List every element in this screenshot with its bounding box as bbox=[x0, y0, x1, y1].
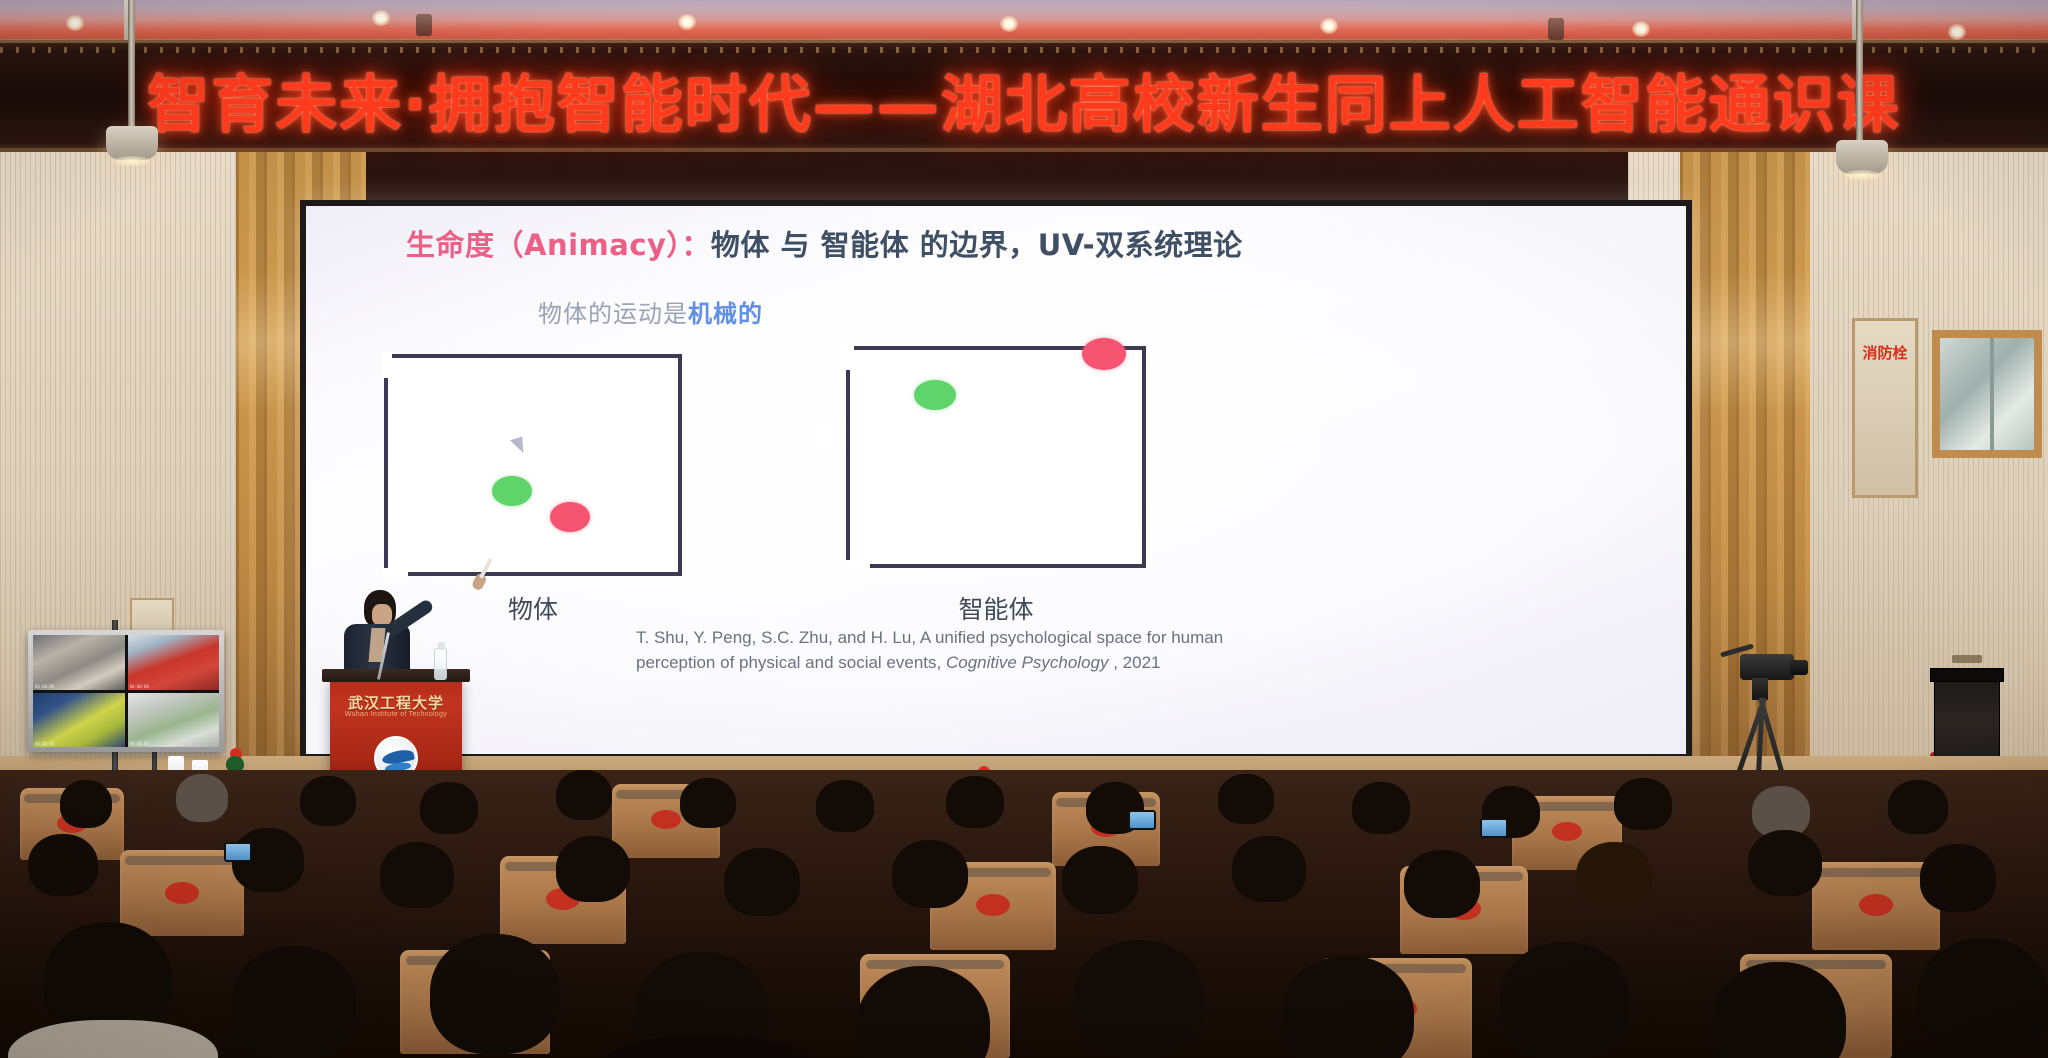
monitor-cell-1: 00:00:00 bbox=[33, 635, 125, 690]
panel-corner-gap bbox=[382, 352, 392, 378]
stage-lamp bbox=[1836, 140, 1888, 174]
seat bbox=[120, 850, 244, 936]
curtain-highlight bbox=[1680, 272, 1810, 412]
projection-screen: 生命度（Animacy）：物体 与 智能体 的边界，UV-双系统理论 物体的运动… bbox=[306, 206, 1686, 754]
podium-organization: 武汉工程大学 bbox=[330, 692, 462, 713]
audience-head bbox=[1352, 782, 1410, 834]
monitor-timestamp: 00:00:00 bbox=[130, 684, 149, 689]
audience-head bbox=[1074, 940, 1204, 1058]
slide-title-pink: 生命度（Animacy）： bbox=[406, 228, 711, 262]
audience-shoulders bbox=[8, 1020, 218, 1058]
monitor-cell-4: 00:00:00 bbox=[128, 693, 220, 748]
audience-head bbox=[946, 776, 1004, 828]
auditorium-photo: 智育未来·拥抱智能时代——湖北高校新生同上人工智能通识课 消防栓 生命度（Ani… bbox=[0, 0, 2048, 1058]
pink-blob bbox=[1082, 338, 1126, 370]
panel-corner-gap bbox=[382, 568, 408, 578]
water-bottle bbox=[434, 648, 447, 680]
slide-title: 生命度（Animacy）：物体 与 智能体 的边界，UV-双系统理论 bbox=[406, 222, 1646, 264]
audience-head bbox=[892, 840, 968, 908]
audience-head bbox=[232, 946, 356, 1058]
fire-hydrant-sign: 消防栓 bbox=[1856, 345, 1914, 362]
seat-number-badge bbox=[976, 894, 1010, 916]
downlight-icon bbox=[1632, 21, 1650, 37]
stage-lamp bbox=[106, 126, 158, 160]
seat-number-badge bbox=[1859, 894, 1893, 916]
audience-head bbox=[1614, 778, 1672, 830]
camera-body bbox=[1740, 654, 1794, 680]
audience-head bbox=[556, 836, 630, 902]
slide-subtitle-blue: 机械的 bbox=[688, 300, 763, 328]
audience-head bbox=[60, 780, 112, 828]
pa-speaker-top bbox=[1930, 668, 2004, 682]
audience-head bbox=[1500, 942, 1630, 1058]
slide-subtitle-gray: 物体的运动是 bbox=[538, 300, 688, 328]
green-blob bbox=[914, 380, 956, 410]
citation-journal: Cognitive Psychology bbox=[946, 653, 1109, 672]
podium-desktop bbox=[322, 669, 470, 682]
audience-head bbox=[680, 778, 736, 828]
window-mullion bbox=[1990, 338, 1994, 450]
monitor-cell-2: 00:00:00 bbox=[128, 635, 220, 690]
downlight-icon bbox=[1000, 16, 1018, 32]
audience-head bbox=[1404, 850, 1480, 918]
audience-head bbox=[1920, 844, 1996, 912]
citation-line-2a: perception of physical and social events… bbox=[636, 653, 946, 672]
audience-head bbox=[176, 774, 228, 822]
seat-number-badge bbox=[651, 810, 681, 829]
audience-head bbox=[1282, 956, 1414, 1058]
downlight-icon bbox=[1320, 18, 1338, 34]
camera-lens-icon bbox=[1790, 660, 1808, 675]
audience-head bbox=[556, 770, 612, 820]
citation-line-1: T. Shu, Y. Peng, S.C. Zhu, and H. Lu, A … bbox=[636, 628, 1223, 647]
slide-subtitle: 物体的运动是机械的 bbox=[538, 294, 763, 329]
security-monitor: 00:00:00 00:00:00 00:00:00 00:00:00 bbox=[28, 630, 224, 752]
citation-line-2b: , 2021 bbox=[1109, 653, 1161, 672]
monitor-timestamp: 00:00:00 bbox=[130, 741, 149, 746]
ceiling-vent bbox=[416, 14, 432, 36]
mouse-cursor-icon bbox=[510, 436, 527, 455]
led-banner: 智育未来·拥抱智能时代——湖北高校新生同上人工智能通识课 bbox=[0, 40, 2048, 152]
banner-title: 智育未来·拥抱智能时代——湖北高校新生同上人工智能通识课 bbox=[0, 43, 2048, 155]
seat-number-badge bbox=[1552, 822, 1582, 841]
audience-head bbox=[816, 780, 874, 832]
audience-head bbox=[380, 842, 454, 908]
demo-panel-agent bbox=[846, 346, 1146, 568]
audience-phone bbox=[1480, 818, 1508, 838]
monitor-cell-3: 00:00:00 bbox=[33, 693, 125, 748]
audience-phone bbox=[224, 842, 252, 862]
downlight-icon bbox=[1948, 24, 1966, 40]
audience-head bbox=[1918, 938, 2048, 1058]
wall-window bbox=[1932, 330, 2042, 458]
audience-head bbox=[300, 776, 356, 826]
downlight-icon bbox=[66, 15, 84, 31]
audience-head bbox=[28, 834, 98, 896]
seat-number-badge bbox=[165, 882, 199, 904]
seat-headrest bbox=[1817, 868, 1935, 877]
panel-corner-gap bbox=[844, 560, 870, 570]
audience-head bbox=[1888, 780, 1948, 834]
audience-head bbox=[1218, 774, 1274, 824]
seat-headrest bbox=[125, 856, 239, 865]
demo-panel-object bbox=[384, 354, 682, 576]
audience-shoulders bbox=[596, 1036, 816, 1058]
slide-title-dark: 物体 与 智能体 的边界，UV-双系统理论 bbox=[711, 228, 1243, 262]
panel-corner-gap bbox=[844, 344, 854, 370]
downlight-icon bbox=[372, 10, 390, 26]
podium-organization-en: Wuhan Institute of Technology bbox=[330, 711, 462, 718]
audience-area bbox=[0, 770, 2048, 1058]
tripod-head bbox=[1752, 678, 1768, 700]
downlight-icon bbox=[678, 14, 696, 30]
audience-head bbox=[724, 848, 800, 916]
demo-caption-agent: 智能体 bbox=[846, 590, 1146, 626]
ceiling-vent bbox=[1548, 18, 1564, 40]
monitor-timestamp: 00:00:00 bbox=[35, 741, 54, 746]
monitor-timestamp: 00:00:00 bbox=[35, 684, 54, 689]
audience-head bbox=[420, 782, 478, 834]
pink-blob bbox=[550, 502, 590, 532]
slide-citation: T. Shu, Y. Peng, S.C. Zhu, and H. Lu, A … bbox=[636, 626, 1376, 675]
audience-phone bbox=[1128, 810, 1156, 830]
audience-head bbox=[430, 934, 560, 1054]
audience-head bbox=[1576, 842, 1652, 910]
audience-head bbox=[1748, 830, 1822, 896]
audience-head bbox=[1232, 836, 1306, 902]
audience-head bbox=[1062, 846, 1138, 914]
green-blob bbox=[492, 476, 532, 506]
monitor-quad-grid: 00:00:00 00:00:00 00:00:00 00:00:00 bbox=[33, 635, 219, 747]
